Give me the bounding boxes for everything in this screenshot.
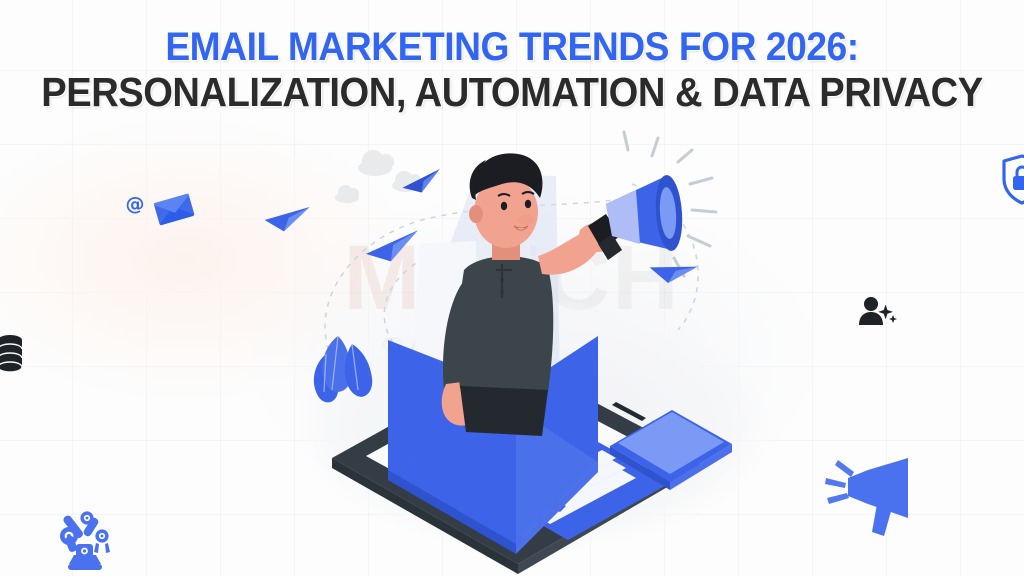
headline-line-1: EMAIL MARKETING TRENDS FOR 2026: [36, 26, 988, 68]
shield-lock-icon [1000, 155, 1024, 207]
megaphone-icon [822, 456, 922, 546]
person-sparkle-icon [858, 295, 898, 327]
paper-plane [264, 204, 310, 233]
leaf-plant [314, 336, 372, 402]
held-megaphone [588, 132, 716, 276]
main-illustration: New email 1 [280, 140, 760, 560]
at-icon: @ [123, 192, 147, 216]
svg-text:@: @ [126, 193, 145, 215]
headline-line-2: PERSONALIZATION, AUTOMATION & DATA PRIVA… [36, 71, 988, 114]
page-title: EMAIL MARKETING TRENDS FOR 2026: PERSONA… [0, 26, 1024, 115]
robot-arm-icon [52, 508, 124, 576]
banner-root: MTECH Solutions Inc. (Innovative Ideas) … [0, 0, 1024, 576]
database-icon [0, 333, 26, 375]
paper-plane [400, 169, 443, 196]
paper-plane [647, 254, 698, 290]
envelope-icon [152, 192, 196, 226]
paper-plane [364, 230, 421, 263]
